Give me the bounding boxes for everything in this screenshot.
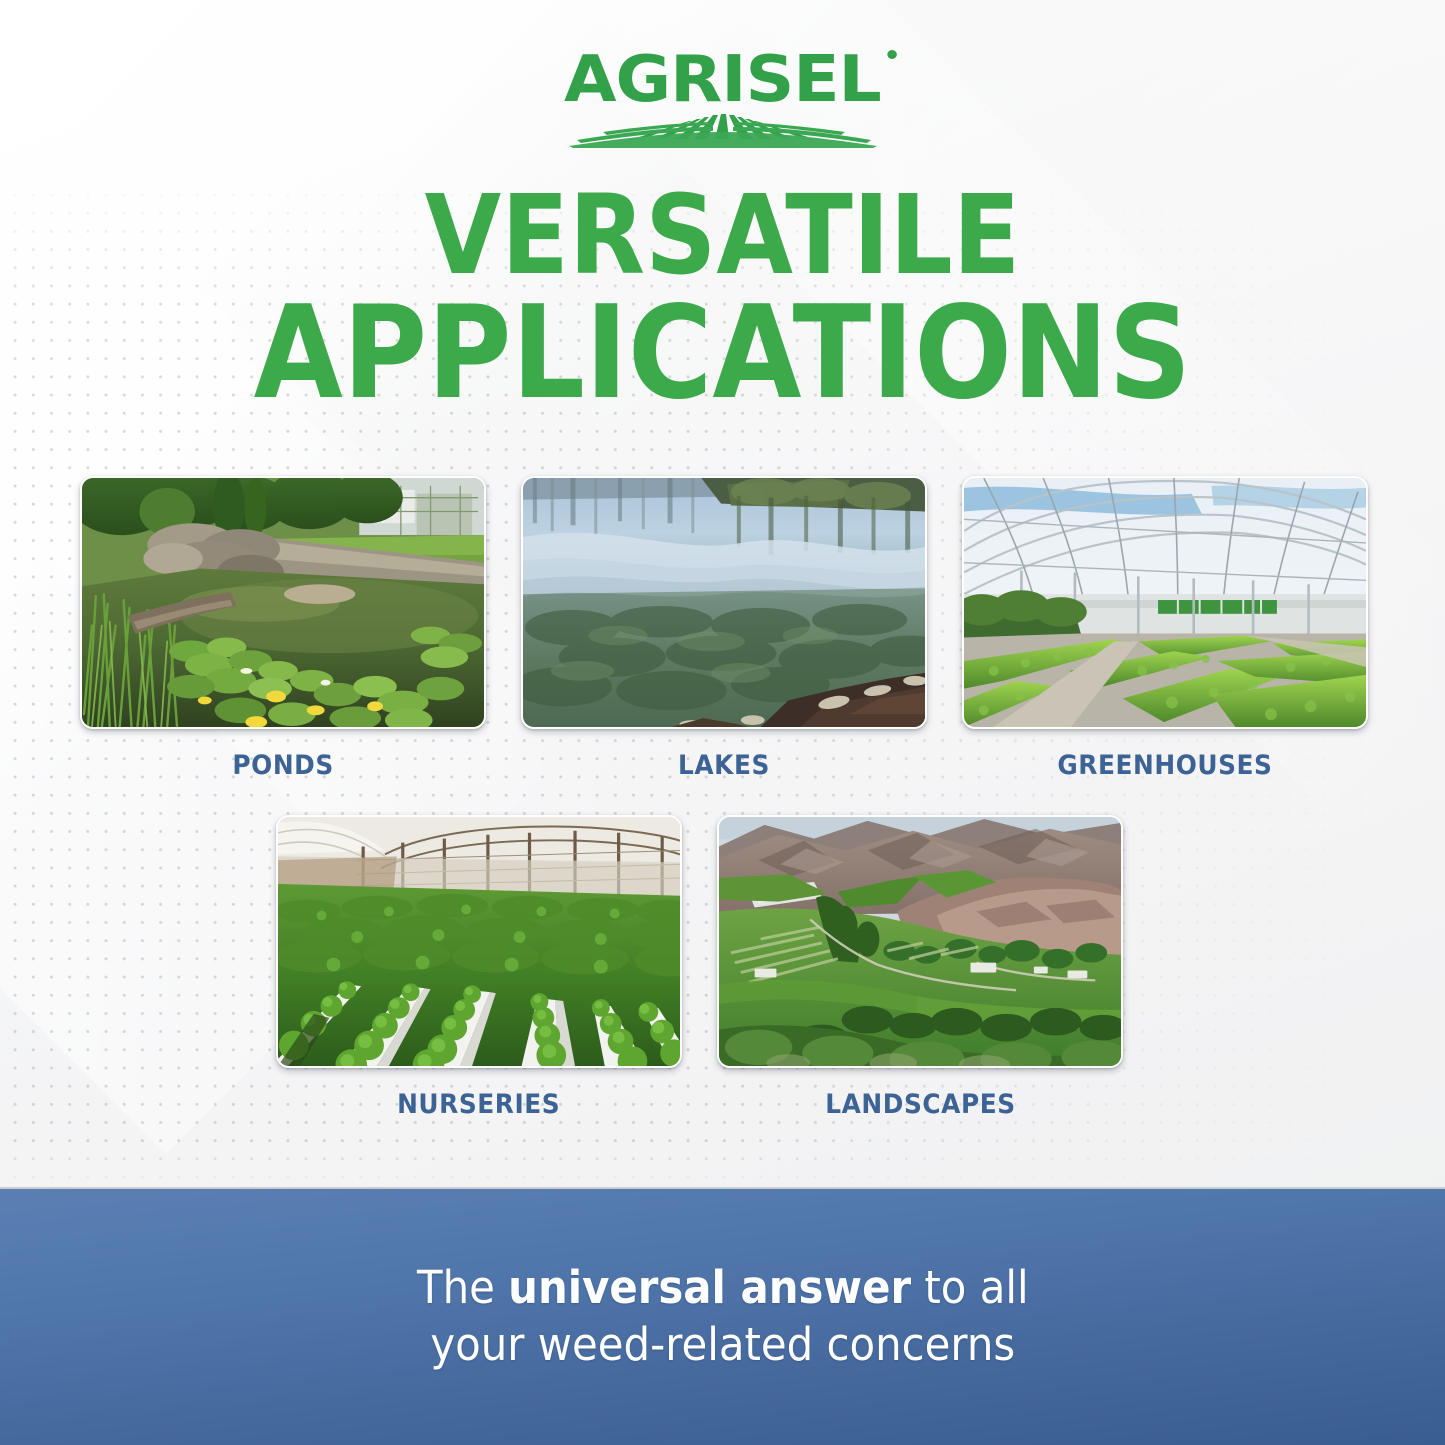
application-card-row-1: PONDS <box>80 476 1368 781</box>
card-caption: NURSERIES <box>397 1089 560 1120</box>
tagline: The universal answer to all your weed-re… <box>417 1260 1029 1373</box>
card-caption: LAKES <box>678 750 770 781</box>
tagline-line-2: your weed-related concerns <box>417 1317 1029 1374</box>
brand-logo: AGRISEL <box>0 48 1445 148</box>
footer-banner: The universal answer to all your weed-re… <box>0 1187 1445 1445</box>
tagline-line-1: The universal answer to all <box>417 1261 1029 1314</box>
card-image-nursery <box>276 815 682 1068</box>
tagline-post: to all <box>911 1261 1029 1314</box>
card-image-pond <box>80 476 486 729</box>
tagline-emphasis: universal answer <box>508 1261 911 1314</box>
registered-dot-icon <box>887 50 897 59</box>
card-image-greenhouse <box>962 476 1368 729</box>
card-caption: GREENHOUSES <box>1057 750 1272 781</box>
application-card-landscapes[interactable]: LANDSCAPES <box>717 815 1123 1120</box>
application-card-lakes[interactable]: LAKES <box>521 476 927 781</box>
application-card-greenhouses[interactable]: GREENHOUSES <box>962 476 1368 781</box>
card-image-landscape <box>717 815 1123 1068</box>
tagline-pre: The <box>417 1261 508 1314</box>
application-card-row-2: NURSERIES <box>276 815 1123 1120</box>
card-caption: LANDSCAPES <box>825 1089 1015 1120</box>
card-caption: PONDS <box>232 750 333 781</box>
card-image-lake <box>521 476 927 729</box>
page-title-line-1: VERSATILE <box>72 183 1373 289</box>
application-card-nurseries[interactable]: NURSERIES <box>276 815 682 1120</box>
brand-wordmark-text: AGRISEL <box>564 43 881 117</box>
poster-canvas: AGRISEL <box>0 0 1445 1445</box>
page-title: VERSATILE APPLICATIONS <box>0 183 1445 415</box>
brand-wordmark: AGRISEL <box>564 48 881 112</box>
page-title-line-2: APPLICATIONS <box>72 293 1373 416</box>
application-card-ponds[interactable]: PONDS <box>80 476 486 781</box>
